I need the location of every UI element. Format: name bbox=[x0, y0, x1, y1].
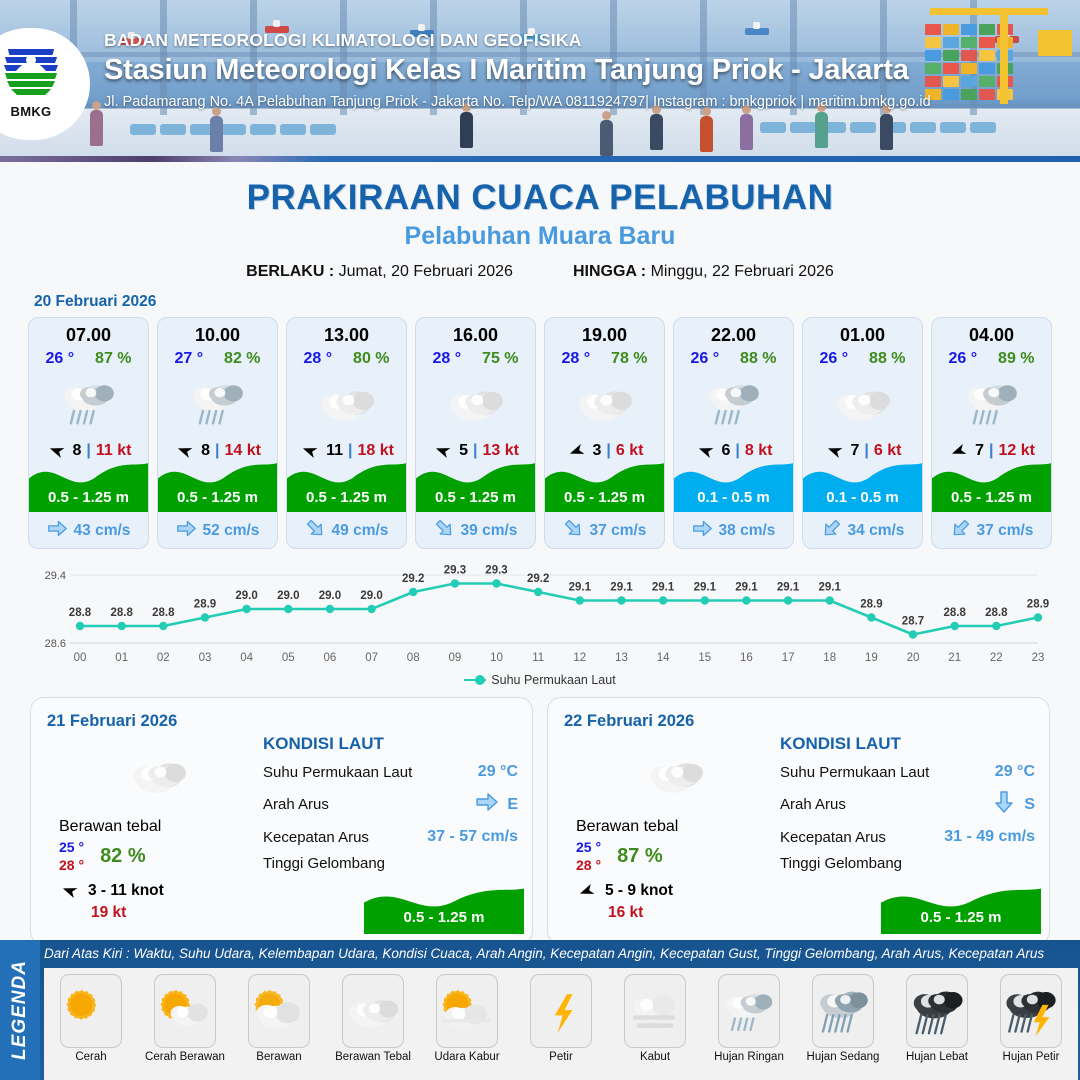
svg-text:14: 14 bbox=[657, 652, 670, 664]
current-direction-icon bbox=[434, 518, 455, 544]
svg-text:23: 23 bbox=[1032, 652, 1045, 664]
banner-terminal-floor bbox=[0, 108, 1080, 162]
legend-items: Cerah Cerah Berawan Berawan Berawan Teba… bbox=[44, 968, 1078, 1080]
panel-date: 22 Februari 2026 bbox=[564, 712, 1033, 731]
legend-item-label: Petir bbox=[549, 1051, 573, 1063]
svg-text:29.0: 29.0 bbox=[360, 590, 382, 602]
legend-item-label: Cerah Berawan bbox=[145, 1051, 225, 1063]
forecast-card: 16.00 28 ° 75 % 5 | 13 kt 0.5 - 1.25 m bbox=[415, 317, 536, 549]
temp-min: 25 ° bbox=[59, 839, 84, 857]
forecast-card: 13.00 28 ° 80 % 11 | 18 kt 0.5 - 1.25 bbox=[286, 317, 407, 549]
current-speed: 38 cm/s bbox=[719, 522, 776, 540]
svg-text:29.1: 29.1 bbox=[652, 582, 675, 594]
svg-text:28.7: 28.7 bbox=[902, 616, 924, 628]
weather-hujan-petir-icon bbox=[1000, 974, 1062, 1048]
svg-text:29.1: 29.1 bbox=[610, 582, 633, 594]
forecast-card: 19.00 28 ° 78 % 3 | 6 kt 0.5 - 1.25 m bbox=[544, 317, 665, 549]
svg-text:29.1: 29.1 bbox=[694, 582, 717, 594]
sea-condition-value: S bbox=[1024, 796, 1035, 814]
svg-text:16: 16 bbox=[740, 652, 753, 664]
current-direction-icon bbox=[692, 518, 713, 544]
legend-item-label: Hujan Sedang bbox=[807, 1051, 880, 1063]
current-direction-icon bbox=[821, 518, 842, 544]
humidity: 88 % bbox=[740, 350, 776, 368]
page-subtitle: Pelabuhan Muara Baru bbox=[0, 222, 1080, 251]
sea-condition-label: Arah Arus bbox=[263, 796, 329, 813]
forecast-time: 13.00 bbox=[287, 318, 406, 346]
forecast-card: 22.00 26 ° 88 % 6 | 8 kt 0.1 - 0.5 m bbox=[673, 317, 794, 549]
sst-chart: 29.428.628.80028.80128.80228.90329.00429… bbox=[28, 561, 1052, 671]
weather-berawan-tebal-icon bbox=[59, 744, 259, 806]
svg-text:00: 00 bbox=[74, 652, 87, 664]
weather-hujan-lebat-icon bbox=[906, 974, 968, 1048]
legend-item: Petir bbox=[514, 968, 608, 1080]
bmkg-logo-text: BMKG bbox=[11, 104, 52, 119]
svg-text:06: 06 bbox=[324, 652, 337, 664]
legend-item-label: Hujan Ringan bbox=[714, 1051, 784, 1063]
bmkg-logo-mark bbox=[0, 41, 64, 103]
page-banner: BMKG BADAN METEOROLOGI KLIMATOLOGI DAN G… bbox=[0, 0, 1080, 162]
wave-height: 0.1 - 0.5 m bbox=[803, 489, 922, 506]
station-name: Stasiun Meteorologi Kelas I Maritim Tanj… bbox=[104, 54, 1064, 87]
forecast-time: 22.00 bbox=[674, 318, 793, 346]
weather-hujan-ringan-icon bbox=[932, 370, 1051, 436]
svg-text:20: 20 bbox=[907, 652, 920, 664]
current-direction-icon bbox=[305, 518, 326, 544]
wave-graphic: 0.5 - 1.25 m bbox=[881, 880, 1041, 934]
air-temperature: 28 ° bbox=[561, 350, 590, 368]
sea-condition-value: 29 °C bbox=[995, 763, 1035, 781]
panel-date: 21 Februari 2026 bbox=[47, 712, 516, 731]
legend-item-label: Berawan bbox=[256, 1051, 301, 1063]
temp-min: 25 ° bbox=[576, 839, 601, 857]
weather-berawan-tebal-icon bbox=[416, 370, 535, 436]
current-speed: 43 cm/s bbox=[74, 522, 131, 540]
weather-berawan-tebal-icon bbox=[545, 370, 664, 436]
svg-text:02: 02 bbox=[157, 652, 170, 664]
forecast-card: 10.00 27 ° 82 % 8 | 14 kt 0.5 - 1.25 m bbox=[157, 317, 278, 549]
svg-text:11: 11 bbox=[532, 652, 544, 664]
chart-legend-label: Suhu Permukaan Laut bbox=[491, 673, 615, 687]
svg-text:13: 13 bbox=[615, 652, 628, 664]
legend-item: Hujan Petir bbox=[984, 968, 1078, 1080]
svg-text:07: 07 bbox=[365, 652, 378, 664]
chart-legend: Suhu Permukaan Laut bbox=[0, 673, 1080, 687]
daily-summary-panel: 22 Februari 2026 Berawan tebal 25 ° 28 °… bbox=[547, 697, 1050, 945]
sea-condition-row: Suhu Permukaan Laut 29 °C bbox=[780, 763, 1035, 781]
wind-speed-range: 5 - 9 knot bbox=[605, 882, 673, 900]
air-temperature: 26 ° bbox=[45, 350, 74, 368]
legend-item: Cerah bbox=[44, 968, 138, 1080]
svg-text:08: 08 bbox=[407, 652, 420, 664]
sea-condition-label: Suhu Permukaan Laut bbox=[780, 764, 929, 781]
svg-text:28.8: 28.8 bbox=[69, 607, 92, 619]
weather-berawan-tebal-icon bbox=[803, 370, 922, 436]
legend-item: Kabut bbox=[608, 968, 702, 1080]
weather-berawan-tebal-icon bbox=[576, 744, 776, 806]
humidity: 87 % bbox=[95, 350, 131, 368]
sea-condition-label: Kecepatan Arus bbox=[780, 829, 886, 846]
sea-condition-row: Arah Arus E bbox=[263, 790, 518, 819]
svg-text:17: 17 bbox=[782, 652, 795, 664]
hingga-label: HINGGA : bbox=[573, 263, 646, 280]
daily-summary-panels: 21 Februari 2026 Berawan tebal 25 ° 28 °… bbox=[0, 687, 1080, 945]
svg-text:10: 10 bbox=[490, 652, 503, 664]
current-speed: 34 cm/s bbox=[848, 522, 905, 540]
hingga-value: Minggu, 22 Februari 2026 bbox=[651, 263, 834, 280]
legend-item: Berawan bbox=[232, 968, 326, 1080]
legend-item: Hujan Lebat bbox=[890, 968, 984, 1080]
wave-height: 0.5 - 1.25 m bbox=[881, 909, 1041, 926]
weather-petir-icon bbox=[530, 974, 592, 1048]
berlaku-group: BERLAKU : Jumat, 20 Februari 2026 bbox=[246, 263, 513, 281]
sea-condition-label: Tinggi Gelombang bbox=[780, 855, 902, 872]
weather-cerah-berawan-icon bbox=[154, 974, 216, 1048]
svg-text:19: 19 bbox=[865, 652, 878, 664]
air-temperature: 26 ° bbox=[819, 350, 848, 368]
weather-hujan-ringan-icon bbox=[158, 370, 277, 436]
sea-condition-title: KONDISI LAUT bbox=[780, 734, 1035, 754]
current-speed: 37 cm/s bbox=[590, 522, 647, 540]
weather-hujan-ringan-icon bbox=[29, 370, 148, 436]
temp-max: 28 ° bbox=[59, 857, 84, 875]
wave-height: 0.5 - 1.25 m bbox=[287, 489, 406, 506]
svg-text:29.4: 29.4 bbox=[45, 570, 66, 582]
wave-height: 0.5 - 1.25 m bbox=[416, 489, 535, 506]
weather-berawan-tebal-icon bbox=[342, 974, 404, 1048]
svg-text:15: 15 bbox=[698, 652, 711, 664]
current-direction-icon bbox=[47, 518, 68, 544]
air-temperature: 28 ° bbox=[432, 350, 461, 368]
sea-condition-title: KONDISI LAUT bbox=[263, 734, 518, 754]
wave-height: 0.5 - 1.25 m bbox=[29, 489, 148, 506]
agency-name: BADAN METEOROLOGI KLIMATOLOGI DAN GEOFIS… bbox=[104, 30, 1064, 51]
svg-text:29.0: 29.0 bbox=[319, 590, 341, 602]
station-address: Jl. Padamarang No. 4A Pelabuhan Tanjung … bbox=[104, 94, 1064, 110]
current-speed: 49 cm/s bbox=[332, 522, 389, 540]
humidity: 89 % bbox=[998, 350, 1034, 368]
sea-condition-value: E bbox=[507, 796, 518, 814]
banner-bottom-bar bbox=[0, 156, 1080, 162]
legend-item: Udara Kabur bbox=[420, 968, 514, 1080]
weather-berawan-tebal-icon bbox=[287, 370, 406, 436]
svg-text:29.2: 29.2 bbox=[527, 573, 549, 585]
air-temperature: 26 ° bbox=[690, 350, 719, 368]
air-temperature: 28 ° bbox=[303, 350, 332, 368]
legend-item: Hujan Sedang bbox=[796, 968, 890, 1080]
wind-gust: 16 kt bbox=[608, 904, 776, 922]
weather-berawan-icon bbox=[248, 974, 310, 1048]
temp-max: 28 ° bbox=[576, 857, 601, 875]
svg-text:22: 22 bbox=[990, 652, 1003, 664]
svg-text:28.9: 28.9 bbox=[194, 599, 216, 611]
humidity: 75 % bbox=[482, 350, 518, 368]
hingga-group: HINGGA : Minggu, 22 Februari 2026 bbox=[573, 263, 834, 281]
svg-text:04: 04 bbox=[240, 652, 253, 664]
weather-hujan-ringan-icon bbox=[674, 370, 793, 436]
weather-hujan-ringan-icon bbox=[718, 974, 780, 1048]
current-direction-icon bbox=[950, 518, 971, 544]
sea-condition-row: Kecepatan Arus 37 - 57 cm/s bbox=[263, 828, 518, 846]
sea-condition-value: 31 - 49 cm/s bbox=[944, 828, 1035, 846]
wave-height: 0.5 - 1.25 m bbox=[364, 909, 524, 926]
legend-strip: LEGENDA Dari Atas Kiri : Waktu, Suhu Uda… bbox=[0, 940, 1080, 1080]
humidity: 82 % bbox=[224, 350, 260, 368]
legend-note: Dari Atas Kiri : Waktu, Suhu Udara, Kele… bbox=[44, 946, 1076, 961]
current-direction-icon bbox=[176, 518, 197, 544]
air-temperature: 27 ° bbox=[174, 350, 203, 368]
berlaku-label: BERLAKU : bbox=[246, 263, 334, 280]
svg-text:28.8: 28.8 bbox=[985, 607, 1008, 619]
svg-text:28.6: 28.6 bbox=[45, 638, 66, 650]
validity-row: BERLAKU : Jumat, 20 Februari 2026 HINGGA… bbox=[0, 263, 1080, 281]
legend-side-label: LEGENDA bbox=[0, 940, 40, 1080]
svg-text:29.1: 29.1 bbox=[735, 582, 758, 594]
legend-side-text: LEGENDA bbox=[9, 960, 31, 1060]
forecast-time: 07.00 bbox=[29, 318, 148, 346]
forecast-day-label: 20 Februari 2026 bbox=[34, 293, 1080, 311]
wave-height: 0.5 - 1.25 m bbox=[932, 489, 1051, 506]
current-direction-icon bbox=[992, 790, 1016, 819]
svg-text:29.0: 29.0 bbox=[277, 590, 299, 602]
svg-text:09: 09 bbox=[449, 652, 462, 664]
sea-condition-label: Suhu Permukaan Laut bbox=[263, 764, 412, 781]
svg-text:29.3: 29.3 bbox=[485, 565, 507, 577]
weather-udara-kabur-icon bbox=[436, 974, 498, 1048]
svg-text:28.9: 28.9 bbox=[1027, 599, 1049, 611]
wind-speed-range: 3 - 11 knot bbox=[88, 882, 164, 900]
current-direction-icon bbox=[475, 790, 499, 819]
wave-height: 0.5 - 1.25 m bbox=[545, 489, 664, 506]
sea-condition-row: Tinggi Gelombang bbox=[263, 855, 518, 872]
svg-text:18: 18 bbox=[823, 652, 836, 664]
humidity: 80 % bbox=[353, 350, 389, 368]
sea-condition-row: Suhu Permukaan Laut 29 °C bbox=[263, 763, 518, 781]
svg-text:28.8: 28.8 bbox=[152, 607, 175, 619]
legend-item: Berawan Tebal bbox=[326, 968, 420, 1080]
weather-condition: Berawan tebal bbox=[59, 818, 259, 836]
svg-text:05: 05 bbox=[282, 652, 295, 664]
humidity: 87 % bbox=[617, 845, 663, 868]
berlaku-value: Jumat, 20 Februari 2026 bbox=[339, 263, 513, 280]
legend-item-label: Cerah bbox=[75, 1051, 106, 1063]
svg-text:29.1: 29.1 bbox=[569, 582, 592, 594]
forecast-card: 01.00 26 ° 88 % 7 | 6 kt 0.1 - 0.5 m bbox=[802, 317, 923, 549]
current-speed: 37 cm/s bbox=[977, 522, 1034, 540]
sea-condition-label: Arah Arus bbox=[780, 796, 846, 813]
sea-condition-row: Kecepatan Arus 31 - 49 cm/s bbox=[780, 828, 1035, 846]
humidity: 78 % bbox=[611, 350, 647, 368]
legend-item-label: Kabut bbox=[640, 1051, 670, 1063]
legend-item-label: Udara Kabur bbox=[434, 1051, 499, 1063]
current-direction-icon bbox=[563, 518, 584, 544]
weather-cerah-icon bbox=[60, 974, 122, 1048]
wind-direction-icon bbox=[59, 882, 81, 900]
hourly-forecast-cards: 07.00 26 ° 87 % 8 | 11 kt 0.5 - 1.25 m bbox=[0, 317, 1080, 549]
forecast-card: 04.00 26 ° 89 % 7 | 12 kt 0.5 - 1.25 m bbox=[931, 317, 1052, 549]
svg-text:29.2: 29.2 bbox=[402, 573, 424, 585]
sea-condition-value: 37 - 57 cm/s bbox=[427, 828, 518, 846]
legend-item: Hujan Ringan bbox=[702, 968, 796, 1080]
weather-condition: Berawan tebal bbox=[576, 818, 776, 836]
sea-condition-label: Tinggi Gelombang bbox=[263, 855, 385, 872]
svg-text:29.1: 29.1 bbox=[819, 582, 842, 594]
svg-text:01: 01 bbox=[115, 652, 128, 664]
sea-condition-label: Kecepatan Arus bbox=[263, 829, 369, 846]
weather-hujan-sedang-icon bbox=[812, 974, 874, 1048]
wind-gust: 19 kt bbox=[91, 904, 259, 922]
humidity: 82 % bbox=[100, 845, 146, 868]
current-speed: 52 cm/s bbox=[203, 522, 260, 540]
wave-graphic: 0.5 - 1.25 m bbox=[364, 880, 524, 934]
svg-text:03: 03 bbox=[199, 652, 212, 664]
wave-height: 0.1 - 0.5 m bbox=[674, 489, 793, 506]
forecast-time: 01.00 bbox=[803, 318, 922, 346]
forecast-time: 04.00 bbox=[932, 318, 1051, 346]
air-temperature: 26 ° bbox=[948, 350, 977, 368]
chart-legend-marker bbox=[464, 679, 486, 681]
wave-height: 0.5 - 1.25 m bbox=[158, 489, 277, 506]
forecast-time: 19.00 bbox=[545, 318, 664, 346]
daily-summary-panel: 21 Februari 2026 Berawan tebal 25 ° 28 °… bbox=[30, 697, 533, 945]
svg-text:28.8: 28.8 bbox=[111, 607, 134, 619]
sea-condition-row: Tinggi Gelombang bbox=[780, 855, 1035, 872]
page-title: PRAKIRAAN CUACA PELABUHAN bbox=[0, 178, 1080, 218]
legend-item-label: Hujan Petir bbox=[1003, 1051, 1060, 1063]
svg-text:21: 21 bbox=[948, 652, 961, 664]
sea-condition-value: 29 °C bbox=[478, 763, 518, 781]
svg-text:29.3: 29.3 bbox=[444, 565, 466, 577]
forecast-time: 16.00 bbox=[416, 318, 535, 346]
svg-text:29.0: 29.0 bbox=[235, 590, 257, 602]
legend-item: Cerah Berawan bbox=[138, 968, 232, 1080]
weather-kabut-icon bbox=[624, 974, 686, 1048]
legend-item-label: Hujan Lebat bbox=[906, 1051, 968, 1063]
svg-text:28.8: 28.8 bbox=[944, 607, 967, 619]
forecast-card: 07.00 26 ° 87 % 8 | 11 kt 0.5 - 1.25 m bbox=[28, 317, 149, 549]
legend-item-label: Berawan Tebal bbox=[335, 1051, 411, 1063]
svg-text:29.1: 29.1 bbox=[777, 582, 800, 594]
current-speed: 39 cm/s bbox=[461, 522, 518, 540]
sea-condition-row: Arah Arus S bbox=[780, 790, 1035, 819]
svg-text:28.9: 28.9 bbox=[860, 599, 882, 611]
humidity: 88 % bbox=[869, 350, 905, 368]
svg-text:12: 12 bbox=[573, 652, 586, 664]
forecast-time: 10.00 bbox=[158, 318, 277, 346]
wind-direction-icon bbox=[576, 882, 598, 900]
